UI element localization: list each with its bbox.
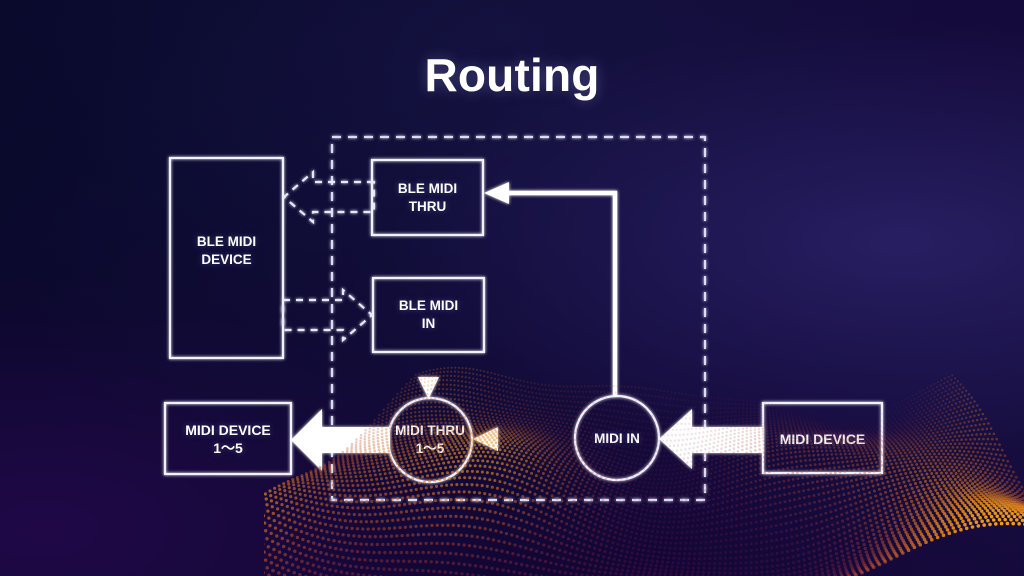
connector-midiin-to-blethru xyxy=(507,193,615,396)
node-midi-device-1-5[interactable] xyxy=(165,403,291,474)
node-midi-device[interactable] xyxy=(763,403,882,473)
slide-canvas: Routing xyxy=(0,0,1024,576)
connector-midithru-to-mididevice15 xyxy=(291,409,390,471)
arrowhead-midiin-to-midithru xyxy=(473,427,498,451)
connector-mididevice-to-midiin xyxy=(659,409,763,469)
connector-blethru-to-bledevice xyxy=(284,172,374,222)
node-ble-midi-thru[interactable] xyxy=(372,160,483,235)
diagram-vector-layer xyxy=(0,0,1024,576)
arrowhead-blein-to-midithru xyxy=(418,377,439,399)
node-ble-midi-device[interactable] xyxy=(170,158,283,358)
arrowhead-midiin-to-blethru xyxy=(484,182,509,204)
node-midi-thru-1-5[interactable] xyxy=(388,398,472,482)
node-midi-in[interactable] xyxy=(575,396,659,480)
connector-bledevice-to-blein xyxy=(283,290,372,340)
node-ble-midi-in[interactable] xyxy=(373,278,484,352)
